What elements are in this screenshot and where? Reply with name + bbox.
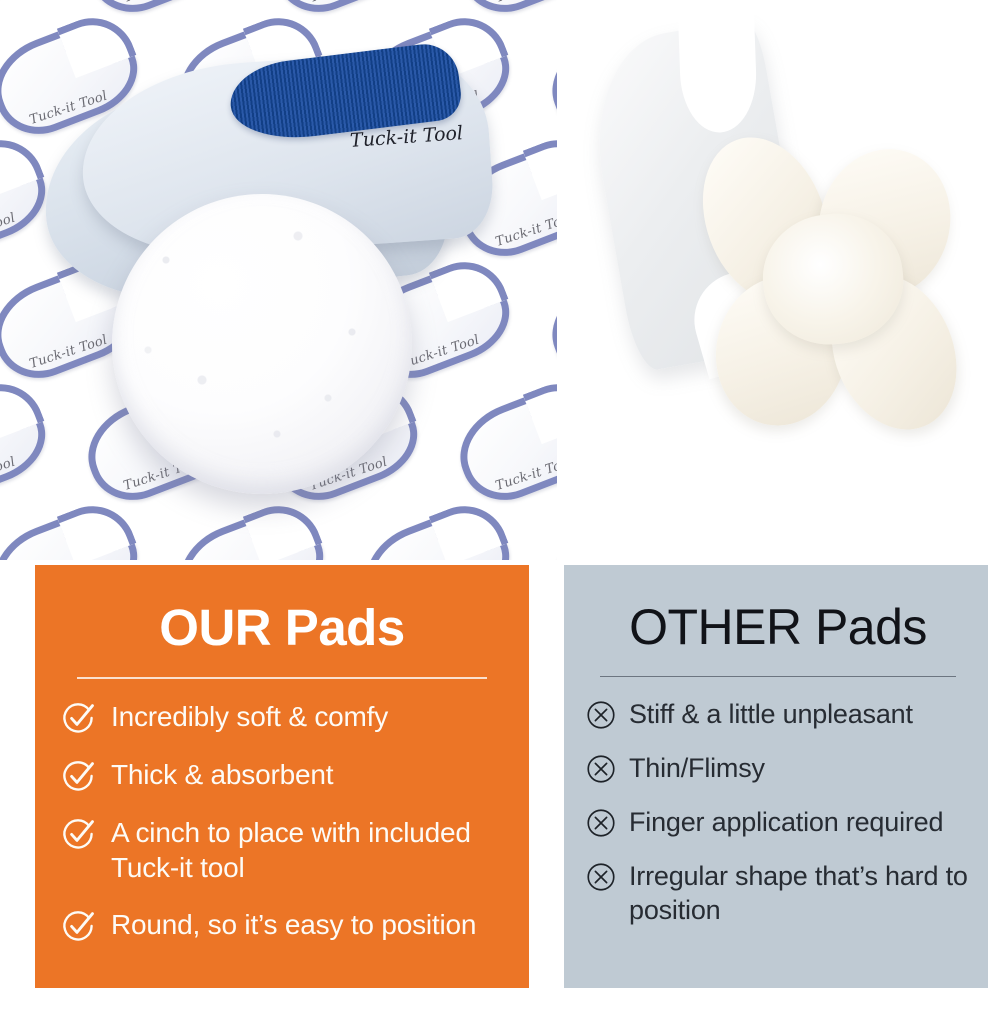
- pattern-blob-label: Tuck-it Tool: [0, 0, 17, 6]
- our-product-photo: Tuck-it ToolTuck-it ToolTuck-it ToolTuck…: [0, 0, 557, 560]
- bullet-icon-wrap: [586, 805, 616, 838]
- leaf-notch-top: [678, 11, 758, 134]
- list-item-label: Finger application required: [629, 805, 943, 839]
- check-circle-icon: [61, 817, 95, 851]
- bullet-icon-wrap: [586, 697, 616, 730]
- brand-pattern-tile: Tuck-it Tool: [0, 0, 58, 25]
- bullet-icon-wrap: [61, 757, 95, 793]
- pattern-blob-shape: [538, 497, 557, 560]
- other-pads-divider: [600, 676, 956, 677]
- other-product-photo: [557, 0, 995, 560]
- our-pads-panel: OUR Pads Incredibly soft & comfyThick & …: [35, 565, 529, 988]
- bullet-icon-wrap: [586, 859, 616, 892]
- check-circle-icon: [61, 909, 95, 943]
- brand-pattern-tile: Tuck-it Tool: [538, 497, 557, 560]
- list-item-label: Thick & absorbent: [111, 757, 333, 792]
- list-item-label: A cinch to place with included Tuck-it t…: [111, 815, 503, 886]
- brand-pattern-tile: Tuck-it Tool: [538, 9, 557, 147]
- hero-product-group: Tuck-it Tool: [34, 48, 504, 498]
- list-item-label: Stiff & a little unpleasant: [629, 697, 913, 731]
- x-circle-icon: [586, 754, 616, 784]
- our-pads-divider: [77, 677, 487, 679]
- x-circle-icon: [586, 862, 616, 892]
- brand-pattern-tile: Tuck-it Tool: [538, 253, 557, 391]
- list-item: Finger application required: [586, 805, 970, 839]
- list-item: A cinch to place with included Tuck-it t…: [61, 815, 503, 886]
- other-pads-panel: OTHER Pads Stiff & a little unpleasantTh…: [564, 565, 988, 988]
- brand-pattern-tile: Tuck-it Tool: [0, 497, 150, 560]
- our-pads-list: Incredibly soft & comfyThick & absorbent…: [61, 699, 503, 944]
- bullet-icon-wrap: [586, 751, 616, 784]
- other-pads-title: OTHER Pads: [586, 591, 970, 654]
- list-item: Irregular shape that’s hard to position: [586, 859, 970, 927]
- pattern-blob-shape: [538, 9, 557, 147]
- x-circle-icon: [586, 808, 616, 838]
- list-item: Thin/Flimsy: [586, 751, 970, 785]
- list-item: Thick & absorbent: [61, 757, 503, 793]
- list-item: Stiff & a little unpleasant: [586, 697, 970, 731]
- infographic-canvas: Tuck-it ToolTuck-it ToolTuck-it ToolTuck…: [0, 0, 995, 1024]
- our-pads-title: OUR Pads: [61, 591, 503, 655]
- check-circle-icon: [61, 759, 95, 793]
- list-item-label: Incredibly soft & comfy: [111, 699, 388, 734]
- x-circle-icon: [586, 700, 616, 730]
- pattern-blob-shape: [538, 253, 557, 391]
- list-item-label: Thin/Flimsy: [629, 751, 765, 785]
- list-item-label: Irregular shape that’s hard to position: [629, 859, 970, 927]
- pattern-blob-shape: [0, 0, 58, 25]
- other-pads-list: Stiff & a little unpleasantThin/FlimsyFi…: [586, 697, 970, 927]
- bullet-icon-wrap: [61, 699, 95, 735]
- bullet-icon-wrap: [61, 815, 95, 851]
- list-item-label: Round, so it’s easy to position: [111, 907, 476, 942]
- check-circle-icon: [61, 701, 95, 735]
- list-item: Round, so it’s easy to position: [61, 907, 503, 943]
- competitor-pad-butterfly: [694, 116, 974, 440]
- round-nursing-pad: [112, 194, 412, 494]
- list-item: Incredibly soft & comfy: [61, 699, 503, 735]
- bullet-icon-wrap: [61, 907, 95, 943]
